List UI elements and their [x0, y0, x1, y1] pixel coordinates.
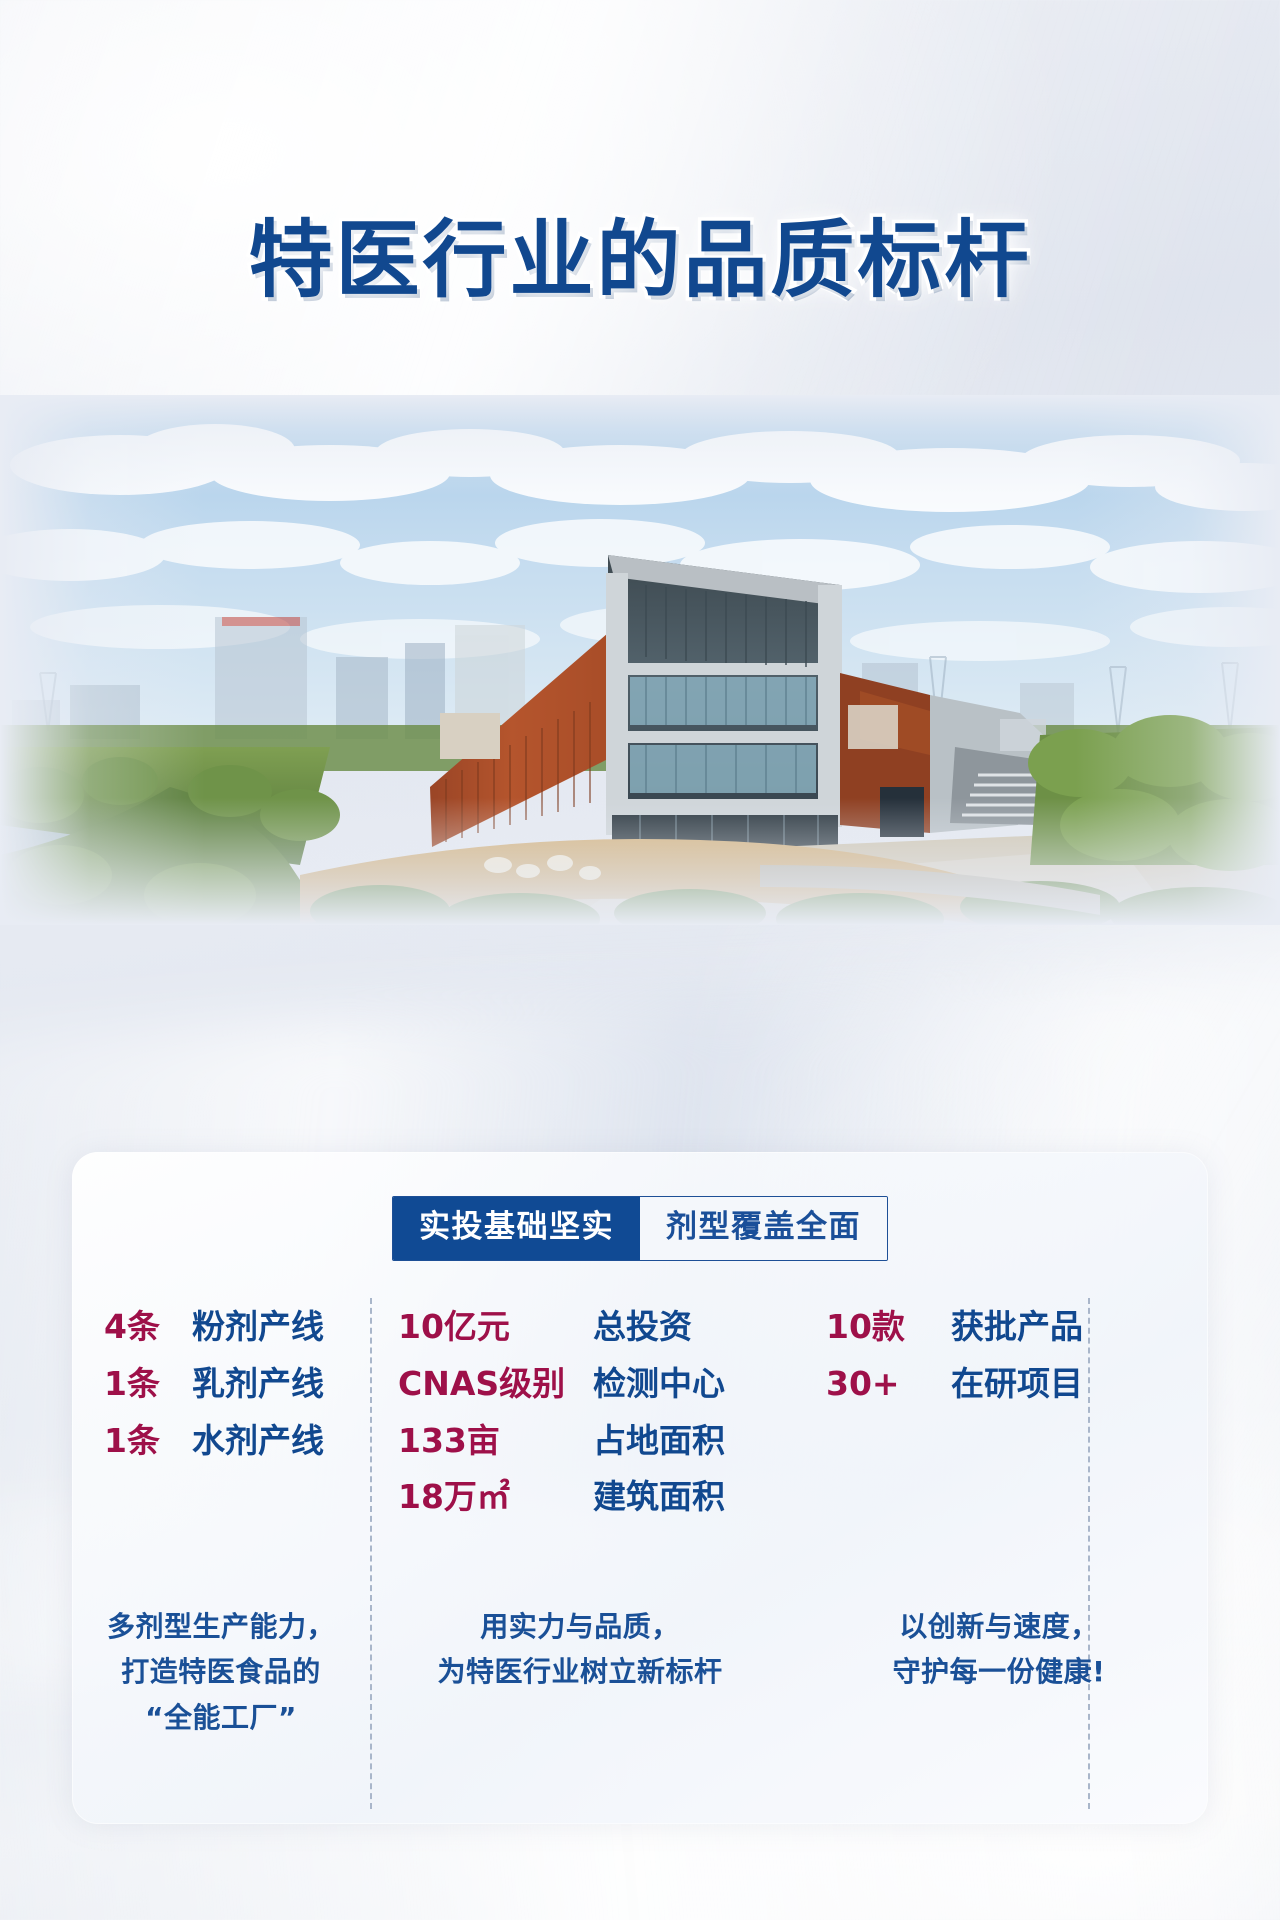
footer-line: 守护每一份健康!	[790, 1649, 1208, 1694]
stat-row: 10亿元 总投资	[370, 1302, 790, 1353]
stat-label: 粉剂产线	[192, 1302, 324, 1353]
footer-production-lines: 多剂型生产能力， 打造特医食品的 “全能工厂”	[72, 1604, 370, 1740]
stat-value: 1条	[104, 1416, 182, 1467]
stat-value: 4条	[104, 1302, 182, 1353]
stat-value: 133亩	[398, 1416, 593, 1467]
stat-value: 10亿元	[398, 1302, 593, 1353]
stat-row: 1条 乳剂产线	[72, 1359, 370, 1410]
stat-label: 乳剂产线	[192, 1359, 324, 1410]
stats-card: 实投基础坚实 剂型覆盖全面 4条 粉剂产线 1条 乳剂产线 1条 水剂产线	[72, 1152, 1208, 1824]
footer-line: 以创新与速度，	[790, 1604, 1208, 1649]
footer-line: 用实力与品质，	[370, 1604, 790, 1649]
footer-line: 多剂型生产能力，	[72, 1604, 370, 1649]
stats-columns: 4条 粉剂产线 1条 乳剂产线 1条 水剂产线 10亿元 总投资	[72, 1284, 1208, 1523]
stat-row: 30+ 在研项目	[790, 1359, 1208, 1410]
stat-row: 4条 粉剂产线	[72, 1302, 370, 1353]
tab-dosage-coverage[interactable]: 剂型覆盖全面	[640, 1197, 887, 1260]
stat-value: CNAS级别	[398, 1359, 593, 1410]
card-footers: 多剂型生产能力， 打造特医食品的 “全能工厂” 用实力与品质， 为特医行业树立新…	[72, 1604, 1208, 1740]
stat-row: 133亩 占地面积	[370, 1416, 790, 1467]
stat-row: 18万㎡ 建筑面积	[370, 1472, 790, 1523]
stat-value: 18万㎡	[398, 1472, 593, 1523]
stat-value: 10款	[826, 1302, 951, 1353]
stat-row: CNAS级别 检测中心	[370, 1359, 790, 1410]
tab-bar: 实投基础坚实 剂型覆盖全面	[392, 1196, 888, 1261]
stats-column-products-pipeline: 10款 获批产品 30+ 在研项目	[790, 1284, 1208, 1523]
aerial-campus-building-photo	[0, 395, 1280, 925]
stat-value: 30+	[826, 1359, 951, 1410]
page-title-container: 特医行业的品质标杆	[0, 213, 1280, 307]
stat-label: 获批产品	[951, 1302, 1083, 1353]
stat-row: 10款 获批产品	[790, 1302, 1208, 1353]
footer-line: “全能工厂”	[72, 1695, 370, 1740]
footer-products-pipeline: 以创新与速度， 守护每一份健康!	[790, 1604, 1208, 1740]
footer-line: 为特医行业树立新标杆	[370, 1649, 790, 1694]
tab-investment-foundation[interactable]: 实投基础坚实	[393, 1197, 640, 1260]
stat-value: 1条	[104, 1359, 182, 1410]
stat-label: 总投资	[593, 1302, 692, 1353]
stat-row: 1条 水剂产线	[72, 1416, 370, 1467]
photo-illustration	[0, 395, 1280, 925]
stat-label: 占地面积	[593, 1416, 725, 1467]
stats-column-investment-scale: 10亿元 总投资 CNAS级别 检测中心 133亩 占地面积 18万㎡ 建筑面积	[370, 1284, 790, 1523]
stat-label: 建筑面积	[593, 1472, 725, 1523]
stat-label: 在研项目	[951, 1359, 1083, 1410]
stat-label: 水剂产线	[192, 1416, 324, 1467]
stat-label: 检测中心	[593, 1359, 725, 1410]
stats-column-production-lines: 4条 粉剂产线 1条 乳剂产线 1条 水剂产线	[72, 1284, 370, 1523]
page-title: 特医行业的品质标杆	[248, 213, 1031, 307]
footer-line: 打造特医食品的	[72, 1649, 370, 1694]
footer-investment-scale: 用实力与品质， 为特医行业树立新标杆	[370, 1604, 790, 1740]
